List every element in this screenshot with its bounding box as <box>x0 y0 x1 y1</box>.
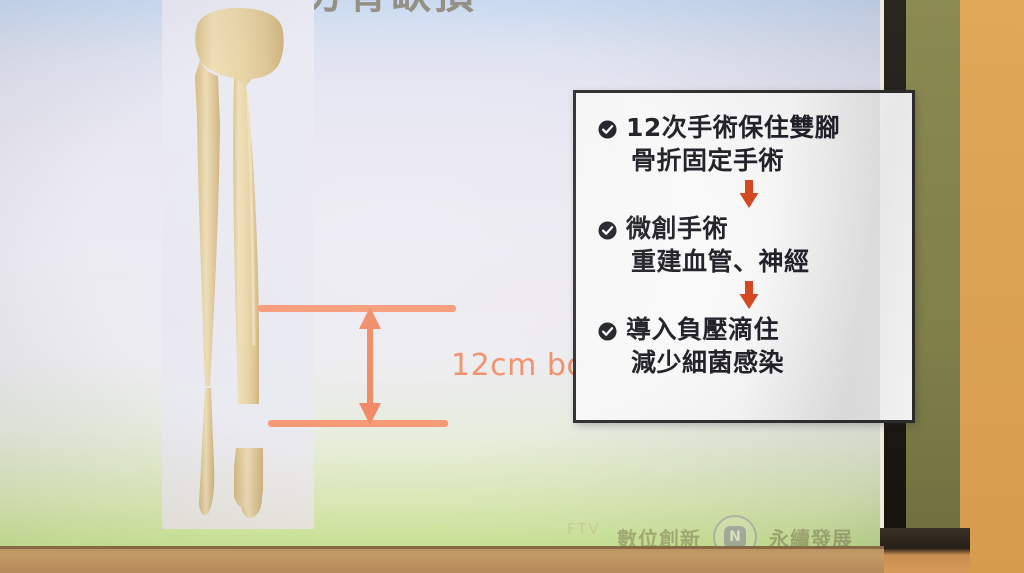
bullet-row-3: 導入負壓滴住 <box>598 313 900 346</box>
bullet-3-line-1: 導入負壓滴住 <box>626 313 779 346</box>
gap-double-arrow-icon <box>352 305 388 427</box>
check-circle-icon <box>598 120 617 143</box>
connector-arrow-2 <box>598 280 900 310</box>
bullet-1-line-2: 骨折固定手術 <box>631 144 900 177</box>
wall-orange <box>958 0 1024 573</box>
connector-arrow-1 <box>598 179 900 209</box>
tibia-shaft-upper <box>233 78 259 404</box>
bullet-2-line-1: 微創手術 <box>626 212 728 245</box>
bone-illustration-box <box>162 0 314 529</box>
check-circle-icon <box>598 322 617 345</box>
fibula-upper <box>195 60 220 386</box>
arrow-down-icon <box>738 179 760 209</box>
bullet-row-1: 12次手術保住雙腳 <box>598 111 900 144</box>
tibia-distal-end <box>234 448 263 509</box>
tibia-fibula-bone-illustration <box>162 0 314 529</box>
arrow-down-icon <box>738 280 760 310</box>
projected-slide-scene: 十二公分骨缺損 <box>0 0 1024 573</box>
projection-screen: 十二公分骨缺損 <box>0 0 880 573</box>
watermark-faint-text: FTV <box>567 520 601 538</box>
bullet-1-line-1: 12次手術保住雙腳 <box>626 111 840 144</box>
bullet-group-2: 微創手術 重建血管、神經 <box>598 212 900 278</box>
bullet-group-3: 導入負壓滴住 減少細菌感染 <box>598 313 900 379</box>
bullet-group-1: 12次手術保住雙腳 骨折固定手術 <box>598 111 900 177</box>
fibula-lower <box>199 388 214 515</box>
bullet-row-2: 微創手術 <box>598 212 900 245</box>
bullet-2-line-2: 重建血管、神經 <box>631 245 900 278</box>
floor-strip <box>880 528 970 573</box>
check-circle-icon <box>598 221 617 244</box>
bullet-3-line-2: 減少細菌感染 <box>631 346 900 379</box>
screen-bottom-frame <box>0 546 884 573</box>
treatment-steps-panel: 12次手術保住雙腳 骨折固定手術 <box>573 90 915 423</box>
watermark-logo-letter: N <box>724 526 746 548</box>
